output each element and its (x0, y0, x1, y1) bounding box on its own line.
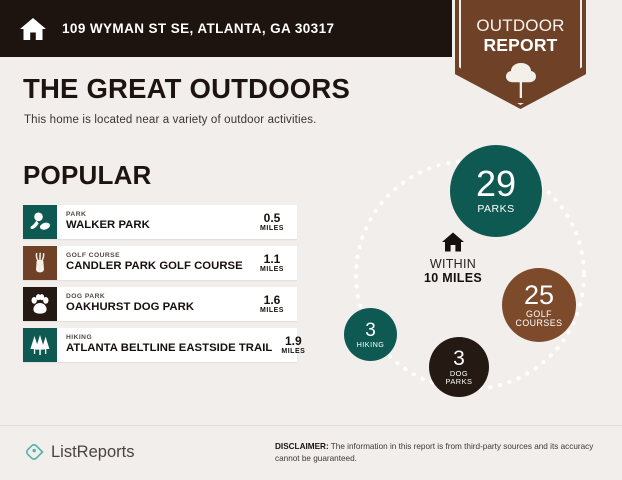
stat-label-line2: PARKS (445, 378, 472, 386)
stat-label-line2: COURSES (515, 319, 562, 329)
page-title: THE GREAT OUTDOORS (23, 73, 350, 105)
list-item[interactable]: DOG PARK OAKHURST DOG PARK 1.6 MILES (23, 287, 297, 321)
distance-unit: MILES (260, 307, 284, 314)
list-item-name: CANDLER PARK GOLF COURSE (66, 260, 251, 274)
home-icon (408, 231, 498, 253)
stat-circle-dog-parks: 3 DOG PARKS (429, 337, 489, 397)
list-item-name: WALKER PARK (66, 219, 251, 233)
header-bar: 109 WYMAN ST SE, ATLANTA, GA 30317 (0, 0, 452, 57)
badge-line-report: REPORT (455, 35, 586, 56)
distance-value: 1.6 (264, 294, 281, 307)
list-item-distance: 1.1 MILES (251, 246, 297, 280)
stat-circle-golf-courses: 25 GOLF COURSES (502, 268, 576, 342)
amenities-infographic: 29 PARKS 25 GOLF COURSES 3 DOG PARKS 3 H… (330, 135, 622, 420)
popular-list: PARK WALKER PARK 0.5 MILES GOLF COURSE C… (23, 205, 297, 369)
list-item-category: GOLF COURSE (66, 252, 251, 260)
stat-count: 25 (524, 282, 554, 309)
stat-count: 29 (476, 166, 516, 202)
listreports-wordmark: ListReports (51, 443, 134, 462)
stat-count: 3 (365, 321, 376, 340)
list-item-distance: 0.5 MILES (251, 205, 297, 239)
stat-label: HIKING (357, 341, 385, 349)
paw-print-icon (23, 287, 57, 321)
stat-circle-parks: 29 PARKS (450, 145, 542, 237)
pine-trees-icon (23, 328, 57, 362)
golf-tee-icon (23, 246, 57, 280)
list-item[interactable]: PARK WALKER PARK 0.5 MILES (23, 205, 297, 239)
distance-unit: MILES (260, 266, 284, 273)
stat-label: PARKS (477, 204, 514, 215)
list-item-category: HIKING (66, 334, 272, 342)
list-item-text: DOG PARK OAKHURST DOG PARK (57, 287, 251, 321)
footer-divider (0, 425, 622, 426)
outdoor-report-badge: OUTDOOR REPORT (455, 0, 586, 109)
list-item-distance: 1.9 MILES (272, 328, 318, 362)
list-item-text: GOLF COURSE CANDLER PARK GOLF COURSE (57, 246, 251, 280)
disclaimer: DISCLAIMER: The information in this repo… (275, 441, 600, 465)
stat-circle-hiking: 3 HIKING (344, 308, 397, 361)
distance-unit: MILES (281, 348, 305, 355)
outdoor-report-page: 109 WYMAN ST SE, ATLANTA, GA 30317 OUTDO… (0, 0, 622, 480)
list-item-name: ATLANTA BELTLINE EASTSIDE TRAIL (66, 342, 272, 356)
stat-count: 3 (453, 348, 465, 369)
listreports-logo[interactable]: ListReports (24, 442, 134, 462)
list-item-distance: 1.6 MILES (251, 287, 297, 321)
list-item-text: HIKING ATLANTA BELTLINE EASTSIDE TRAIL (57, 328, 272, 362)
disclaimer-label: DISCLAIMER: (275, 442, 329, 451)
list-item-category: DOG PARK (66, 293, 251, 301)
distance-value: 0.5 (264, 212, 281, 225)
property-address: 109 WYMAN ST SE, ATLANTA, GA 30317 (62, 21, 334, 36)
distance-value: 1.9 (285, 335, 302, 348)
badge-line-outdoor: OUTDOOR (455, 16, 586, 36)
listreports-house-icon (24, 442, 44, 462)
park-tree-icon (23, 205, 57, 239)
popular-heading: POPULAR (23, 160, 152, 191)
list-item[interactable]: GOLF COURSE CANDLER PARK GOLF COURSE 1.1… (23, 246, 297, 280)
home-icon (18, 15, 48, 43)
tree-icon (455, 60, 586, 100)
center-label-within: WITHIN (408, 257, 498, 271)
list-item-category: PARK (66, 211, 251, 219)
infographic-center: WITHIN 10 MILES (408, 231, 498, 286)
center-label-distance: 10 MILES (408, 271, 498, 285)
distance-value: 1.1 (264, 253, 281, 266)
list-item-name: OAKHURST DOG PARK (66, 301, 251, 315)
page-subtitle: This home is located near a variety of o… (24, 114, 317, 126)
list-item-text: PARK WALKER PARK (57, 205, 251, 239)
list-item[interactable]: HIKING ATLANTA BELTLINE EASTSIDE TRAIL 1… (23, 328, 297, 362)
distance-unit: MILES (260, 225, 284, 232)
